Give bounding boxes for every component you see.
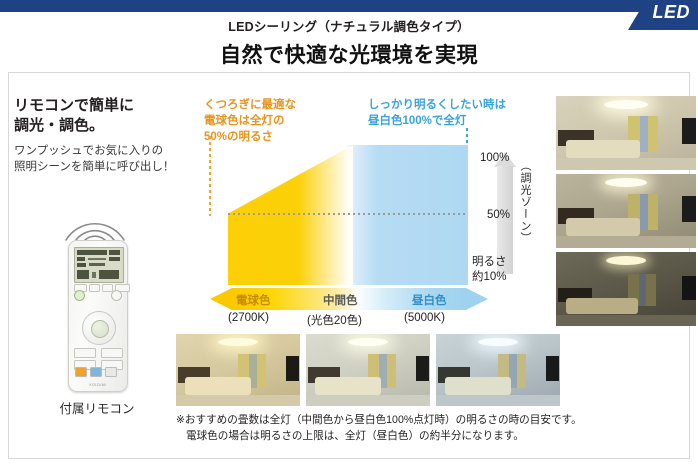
- lead-heading: リモコンで簡単に 調光・調色。: [14, 96, 199, 136]
- callout-warm-line1: くつろぎに最適な: [204, 98, 296, 114]
- remote-extra-button[interactable]: [105, 367, 117, 377]
- ct-label-mid: 中間色: [323, 292, 358, 308]
- remote-lcd-display: [74, 247, 124, 283]
- remote-button[interactable]: [89, 284, 100, 292]
- photo-bedroom-dim: [556, 252, 696, 326]
- photo-bedroom-warm-2700k: [176, 334, 300, 406]
- remote-button[interactable]: [102, 284, 113, 292]
- infographic-page: LED LEDシーリング（ナチュラル調色タイプ） 自然で快適な光環境を実現 リモ…: [0, 0, 698, 466]
- bed: [566, 298, 638, 314]
- dimming-zone-label: （調光ゾーン）: [518, 160, 533, 244]
- remote-cool-button[interactable]: [90, 367, 102, 377]
- scale-label-min-line2: 約10%: [472, 270, 507, 285]
- ir-signal-waves-icon: [60, 200, 130, 242]
- callout-cool: しっかり明るくしたい時は 昼白色100%で全灯: [368, 98, 506, 130]
- floor: [176, 395, 300, 406]
- remote-button[interactable]: [101, 348, 123, 358]
- tv: [682, 118, 696, 144]
- tv: [546, 356, 559, 381]
- ct-sub-mid: (光色20色): [307, 312, 362, 328]
- window: [640, 116, 648, 152]
- remote-power-button[interactable]: [111, 290, 122, 301]
- tv: [416, 356, 429, 381]
- chart-guide-line-50: [228, 213, 468, 215]
- dimming-range-chart: [228, 145, 468, 285]
- bed: [566, 140, 640, 158]
- photo-bedroom-neutral: [306, 334, 430, 406]
- floor: [306, 395, 430, 406]
- ceiling-light: [606, 256, 646, 265]
- ceiling-light: [218, 338, 258, 346]
- photo-bedroom-medium: [556, 174, 696, 248]
- photo-bedroom-bright: [556, 96, 696, 170]
- remote-green-indicator-button[interactable]: [74, 290, 85, 301]
- chart-series-daylight: [346, 145, 468, 285]
- remote-button-row-2[interactable]: [74, 348, 123, 358]
- remote-control-image: KOIZUMI: [68, 240, 128, 392]
- tv: [682, 276, 696, 300]
- floor: [436, 395, 560, 406]
- arrow-left-icon: [210, 288, 232, 310]
- ct-label-cool: 昼白色: [412, 292, 447, 308]
- chart-series-warm: [228, 145, 353, 285]
- callout-warm-leader-line: [209, 136, 211, 216]
- callout-cool-line1: しっかり明るくしたい時は: [368, 98, 506, 114]
- footnote: ※おすすめの畳数は全灯（中間色から昼白色100%点灯時）の明るさの時の目安です。…: [176, 413, 691, 445]
- remote-caption: 付属リモコン: [32, 398, 162, 417]
- scale-label-100: 100%: [480, 152, 509, 164]
- window: [640, 194, 648, 230]
- page-header: LEDシーリング（ナチュラル調色タイプ） 自然で快適な光環境を実現: [0, 16, 698, 69]
- floor: [556, 315, 696, 326]
- top-accent-bar: [0, 0, 698, 12]
- callout-warm-line3: 50%の明るさ: [204, 130, 296, 146]
- window: [639, 274, 646, 306]
- header-subtitle: LEDシーリング（ナチュラル調色タイプ）: [0, 16, 698, 35]
- lead-body: ワンプッシュでお気に入りの 照明シーンを簡単に呼び出し！: [14, 143, 199, 176]
- remote-warm-button[interactable]: [75, 367, 87, 377]
- divider-bottom: [8, 458, 690, 459]
- lead-heading-line1: リモコンで簡単に: [14, 96, 199, 116]
- lead-body-line1: ワンプッシュでお気に入りの: [14, 143, 199, 159]
- bed: [315, 377, 381, 395]
- footnote-line1: ※おすすめの畳数は全灯（中間色から昼白色100%点灯時）の明るさの時の目安です。: [176, 413, 691, 429]
- remote-brand-label: KOIZUMI: [69, 383, 127, 387]
- lead-heading-line2: 調光・調色。: [14, 116, 199, 136]
- bed: [445, 377, 511, 395]
- tv: [286, 356, 299, 381]
- ct-sub-warm: (2700K): [228, 312, 269, 324]
- remote-button-row-4[interactable]: [75, 367, 117, 377]
- remote-dpad[interactable]: [82, 311, 116, 345]
- footnote-line2: 電球色の場合は明るさの上限は、全灯（昼白色）の約半分になります。: [176, 429, 691, 445]
- callout-cool-leader-line: [466, 128, 468, 146]
- ceiling-light: [605, 178, 647, 187]
- tv: [682, 196, 696, 222]
- scale-label-50: 50%: [487, 209, 510, 221]
- callout-warm-line2: 電球色は全灯の: [204, 114, 296, 130]
- scale-label-min-line1: 明るさ: [472, 255, 507, 270]
- ct-label-warm: 電球色: [236, 292, 271, 308]
- bed: [566, 218, 640, 236]
- floor: [556, 236, 696, 248]
- arrow-right-icon: [466, 288, 488, 310]
- divider-top: [8, 72, 690, 73]
- ceiling-light: [478, 338, 518, 346]
- photo-bedroom-daylight-5000k: [436, 334, 560, 406]
- callout-cool-line2: 昼白色100%で全灯: [368, 114, 506, 130]
- remote-button[interactable]: [74, 348, 96, 358]
- ceiling-light: [348, 338, 388, 346]
- bed: [185, 377, 251, 395]
- ceiling-light: [604, 100, 648, 109]
- ct-sub-cool: (5000K): [404, 312, 445, 324]
- scale-label-min: 明るさ 約10%: [472, 255, 507, 285]
- lead-body-line2: 照明シーンを簡単に呼び出し！: [14, 159, 199, 175]
- callout-warm: くつろぎに最適な 電球色は全灯の 50%の明るさ: [204, 98, 296, 146]
- lead-copy: リモコンで簡単に 調光・調色。 ワンプッシュでお気に入りの 照明シーンを簡単に呼…: [14, 96, 199, 175]
- divider-left: [8, 72, 9, 458]
- page-title: 自然で快適な光環境を実現: [0, 39, 698, 69]
- floor: [556, 158, 696, 170]
- remote-onoff-button[interactable]: [91, 320, 109, 338]
